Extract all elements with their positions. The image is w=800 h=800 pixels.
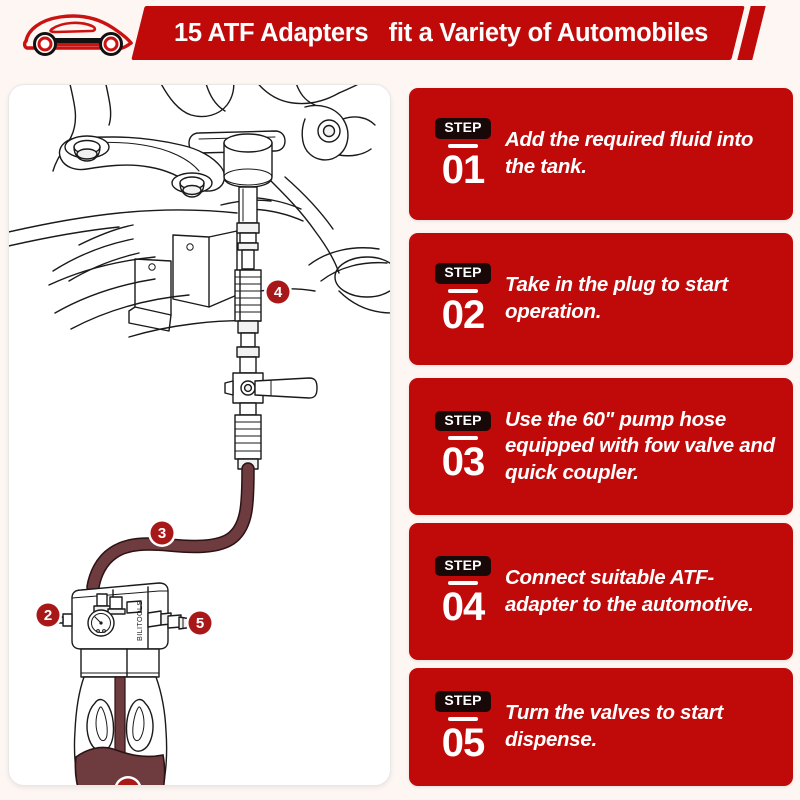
step-badge-label: STEP xyxy=(435,263,490,283)
step-number-column: STEP 03 xyxy=(409,411,505,482)
step-description: Use the 60" pump hose equipped with fow … xyxy=(505,407,793,487)
step-item-03[interactable]: STEP 03 Use the 60" pump hose equipped w… xyxy=(409,378,793,515)
vehicle-underbody-lineart xyxy=(9,85,391,337)
quick-coupler-ribs xyxy=(235,270,261,321)
step-item-02[interactable]: STEP 02 Take in the plug to start operat… xyxy=(409,233,793,365)
step-item-01[interactable]: STEP 01 Add the required fluid into the … xyxy=(409,88,793,220)
fluid-exchanger-unit: BILITOOLS xyxy=(50,583,193,786)
page-title: 15 ATF Adapters fit a Variety of Automob… xyxy=(156,6,726,60)
step-item-05[interactable]: STEP 05 Turn the valves to start dispens… xyxy=(409,668,793,786)
step-number-column: STEP 02 xyxy=(409,263,505,334)
step-number: 04 xyxy=(442,587,485,627)
step-number-column: STEP 01 xyxy=(409,118,505,189)
step-badge-label: STEP xyxy=(435,556,490,576)
step-item-04[interactable]: STEP 04 Connect suitable ATF-adapter to … xyxy=(409,523,793,660)
callout-4: 4 xyxy=(264,278,292,306)
product-diagram: .ln { fill:none; stroke:#1a1a1a; stroke-… xyxy=(9,85,391,786)
step-description: Connect suitable ATF-adapter to the auto… xyxy=(505,565,793,618)
callout-2: 2 xyxy=(34,601,62,629)
svg-text:2: 2 xyxy=(44,607,52,624)
ball-valve xyxy=(225,357,317,403)
step-description: Turn the valves to start dispense. xyxy=(505,700,793,753)
sports-car-icon xyxy=(18,8,136,60)
step-number-column: STEP 04 xyxy=(409,556,505,627)
step-badge-label: STEP xyxy=(435,691,490,711)
illustration-panel: .ln { fill:none; stroke:#1a1a1a; stroke-… xyxy=(8,84,391,786)
pump-brand-text: BILITOOLS xyxy=(135,600,144,641)
step-description: Add the required fluid into the tank. xyxy=(505,127,793,180)
step-badge-label: STEP xyxy=(435,118,490,138)
svg-text:3: 3 xyxy=(158,525,166,542)
lower-coupler-ribs xyxy=(235,415,261,459)
header-banner: 15 ATF Adapters fit a Variety of Automob… xyxy=(120,6,740,60)
step-number: 05 xyxy=(442,723,485,763)
svg-text:5: 5 xyxy=(196,615,204,632)
svg-text:4: 4 xyxy=(274,284,283,301)
step-number: 01 xyxy=(442,150,485,190)
step-number: 02 xyxy=(442,295,485,335)
page-header: 15 ATF Adapters fit a Variety of Automob… xyxy=(0,0,800,66)
svg-text:1: 1 xyxy=(124,782,132,786)
step-number-column: STEP 05 xyxy=(409,691,505,762)
step-description: Take in the plug to start operation. xyxy=(505,272,793,325)
step-number: 03 xyxy=(442,442,485,482)
right-outlet-port xyxy=(148,611,193,629)
callout-3: 3 xyxy=(148,519,176,547)
steps-list: STEP 01 Add the required fluid into the … xyxy=(409,88,793,786)
callout-5: 5 xyxy=(186,609,214,637)
step-badge-label: STEP xyxy=(435,411,490,431)
